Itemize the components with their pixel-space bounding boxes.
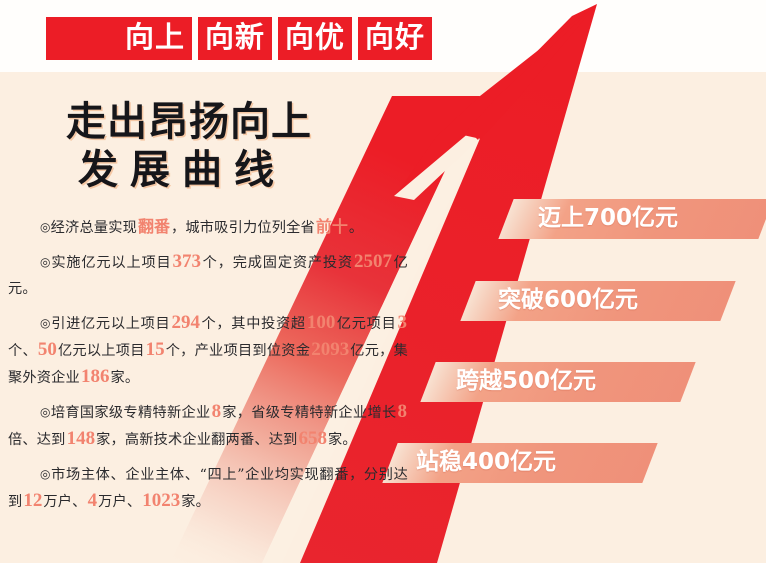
statistic-highlight: 2507 (353, 251, 393, 272)
statistic-highlight: 50 (37, 339, 58, 360)
statistic-highlight: 4 (87, 490, 99, 511)
statistic-text: 家。 (181, 494, 210, 510)
statistic-text: 家。 (328, 432, 357, 448)
statistic-highlight: 186 (80, 366, 111, 387)
milestone-banner-700: 迈上700亿元 (506, 199, 766, 239)
milestone-label: 跨越500亿元 (456, 370, 596, 395)
tag-chip-0: 向上 (46, 17, 192, 60)
statistic-text: 个，完成固定资产投资 (202, 255, 353, 271)
statistic-text: 亿元以上项目 (58, 343, 145, 359)
statistic-item: ◎培育国家级专精特新企业8家，省级专精特新企业增长8倍、达到148家，高新技术企… (8, 399, 408, 453)
statistic-item: ◎实施亿元以上项目373个，完成固定资产投资2507亿元。 (8, 249, 408, 302)
statistic-highlight: 8 (397, 401, 409, 422)
statistic-text: 万户、 (98, 494, 141, 510)
statistic-text: 实施亿元以上项目 (51, 255, 171, 271)
bullet-marker-icon: ◎ (40, 316, 51, 330)
milestone-banner-600: 突破600亿元 (468, 281, 728, 321)
milestone-label: 站稳400亿元 (416, 451, 556, 476)
statistic-highlight: 658 (298, 428, 329, 449)
milestone-banner-500: 跨越500亿元 (428, 362, 688, 402)
statistic-highlight: 2093 (310, 339, 350, 360)
bullet-marker-icon: ◎ (40, 255, 51, 269)
milestone-label: 突破600亿元 (498, 289, 638, 314)
statistic-item: ◎经济总量实现翻番，城市吸引力位列全省前十。 (8, 214, 408, 241)
statistic-highlight: 翻番 (137, 217, 171, 236)
statistic-highlight: 1023 (141, 490, 181, 511)
statistic-highlight: 3 (397, 312, 409, 333)
statistic-text: 家，高新技术企业翻两番、达到 (96, 432, 297, 448)
tag-chip-3: 向好 (358, 17, 432, 60)
statistic-text: 家。 (110, 370, 139, 386)
milestone-banner-400: 站稳400亿元 (390, 443, 650, 483)
tag-chip-label: 向新 (205, 23, 265, 54)
statistic-item: ◎市场主体、企业主体、“四上”企业均实现翻番，分别达到12万户、4万户、1023… (8, 461, 408, 515)
statistic-item: ◎引进亿元以上项目294个，其中投资超100亿元项目3个、50亿元以上项目15个… (8, 310, 408, 391)
bullet-marker-icon: ◎ (40, 220, 51, 234)
statistic-text: 个，其中投资超 (201, 316, 306, 332)
tag-chip-label: 向好 (365, 23, 425, 54)
tag-strip: 向上向新向优向好 (46, 17, 432, 60)
statistic-text: 家，省级专精特新企业增长 (222, 405, 396, 421)
statistic-highlight: 148 (66, 428, 97, 449)
milestone-label: 迈上700亿元 (538, 207, 678, 232)
tag-chip-2: 向优 (278, 17, 352, 60)
statistic-text: 培育国家级专精特新企业 (51, 405, 211, 421)
statistic-highlight: 294 (170, 312, 201, 333)
statistic-text: ，城市吸引力位列全省 (171, 220, 315, 236)
statistic-highlight: 前十 (315, 217, 349, 236)
page-title-line-2: 发展曲线 (66, 146, 312, 194)
bullet-marker-icon: ◎ (40, 467, 51, 481)
statistic-highlight: 8 (211, 401, 223, 422)
bullet-marker-icon: ◎ (40, 405, 51, 419)
statistic-text: 万户、 (43, 494, 86, 510)
statistic-text: 倍、达到 (8, 432, 66, 448)
statistic-highlight: 12 (22, 490, 43, 511)
statistic-highlight: 15 (145, 339, 166, 360)
statistic-text: 。 (349, 220, 363, 236)
statistic-text: 引进亿元以上项目 (51, 316, 170, 332)
tag-chip-1: 向新 (198, 17, 272, 60)
page-title: 走出昂扬向上 发展曲线 (66, 98, 312, 194)
statistic-text: 个，产业项目到位资金 (166, 343, 311, 359)
statistics-list: ◎经济总量实现翻番，城市吸引力位列全省前十。◎实施亿元以上项目373个，完成固定… (8, 214, 408, 515)
infographic-root: 向上向新向优向好 走出昂扬向上 发展曲线 ◎经济总量实现翻番，城市吸引力位列全省… (0, 0, 766, 563)
statistic-highlight: 100 (306, 312, 337, 333)
tag-chip-label: 向上 (125, 23, 185, 54)
statistic-text: 个、 (8, 343, 37, 359)
statistic-text: 经济总量实现 (51, 220, 137, 236)
statistic-text: 亿元项目 (336, 316, 396, 332)
statistic-highlight: 373 (172, 251, 203, 272)
tag-chip-label: 向优 (285, 23, 345, 54)
page-title-line-1: 走出昂扬向上 (66, 98, 312, 146)
